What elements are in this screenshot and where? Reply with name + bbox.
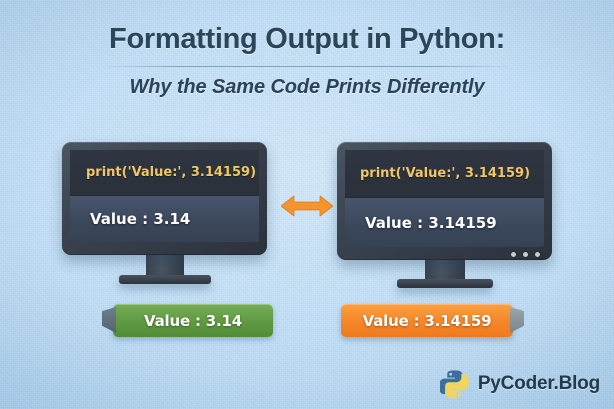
monitor-left-neck bbox=[146, 255, 184, 275]
output-pane-left: Value : 3.14 bbox=[70, 195, 259, 242]
monitor-left-frame: print('Value:', 3.14159) Value : 3.14 bbox=[62, 142, 267, 255]
double-headed-arrow-svg bbox=[281, 193, 333, 219]
monitor-right-screen: print('Value:', 3.14159) Value : 3.14159 bbox=[345, 150, 544, 247]
code-text-left: print('Value:', 3.14159) bbox=[86, 165, 256, 180]
page-title: Formatting Output in Python: bbox=[0, 24, 614, 56]
monitor-left: print('Value:', 3.14159) Value : 3.14 bbox=[62, 142, 267, 284]
poster-header: Formatting Output in Python: Why the Sam… bbox=[0, 24, 614, 99]
monitor-left-stand bbox=[119, 275, 211, 284]
brand-logo[interactable]: PyCoder.Blog bbox=[440, 369, 600, 399]
indicator-dot bbox=[523, 252, 528, 257]
output-pane-right: Value : 3.14159 bbox=[345, 197, 544, 247]
output-text-left: Value : 3.14 bbox=[90, 210, 190, 228]
banner-left-label: Value : 3.14 bbox=[144, 312, 242, 330]
code-pane-left: print('Value:', 3.14159) bbox=[70, 150, 259, 195]
code-pane-right: print('Value:', 3.14159) bbox=[345, 150, 544, 197]
code-text-right: print('Value:', 3.14159) bbox=[360, 166, 530, 181]
banner-right-fold bbox=[510, 307, 524, 333]
brand-logo-text: PyCoder.Blog bbox=[478, 373, 600, 395]
banner-right: Value : 3.14159 bbox=[341, 304, 513, 337]
banner-left-fold bbox=[102, 307, 116, 333]
banner-right-label: Value : 3.14159 bbox=[363, 312, 492, 330]
monitor-right-neck bbox=[425, 260, 465, 279]
monitor-right: print('Value:', 3.14159) Value : 3.14159 bbox=[337, 142, 552, 288]
indicator-dot bbox=[511, 252, 516, 257]
monitor-left-screen: print('Value:', 3.14159) Value : 3.14 bbox=[70, 150, 259, 242]
monitor-right-stand bbox=[397, 279, 493, 288]
indicator-dot bbox=[535, 252, 540, 257]
double-headed-arrow-icon bbox=[281, 193, 333, 224]
monitor-right-frame: print('Value:', 3.14159) Value : 3.14159 bbox=[337, 142, 552, 260]
title-divider bbox=[107, 66, 507, 67]
page-subtitle: Why the Same Code Prints Differently bbox=[0, 76, 614, 99]
poster-canvas: Formatting Output in Python: Why the Sam… bbox=[0, 0, 614, 409]
output-text-right: Value : 3.14159 bbox=[365, 214, 497, 232]
banner-left: Value : 3.14 bbox=[113, 304, 273, 337]
monitor-right-indicator-dots bbox=[511, 252, 540, 257]
python-logo-icon bbox=[440, 369, 470, 399]
